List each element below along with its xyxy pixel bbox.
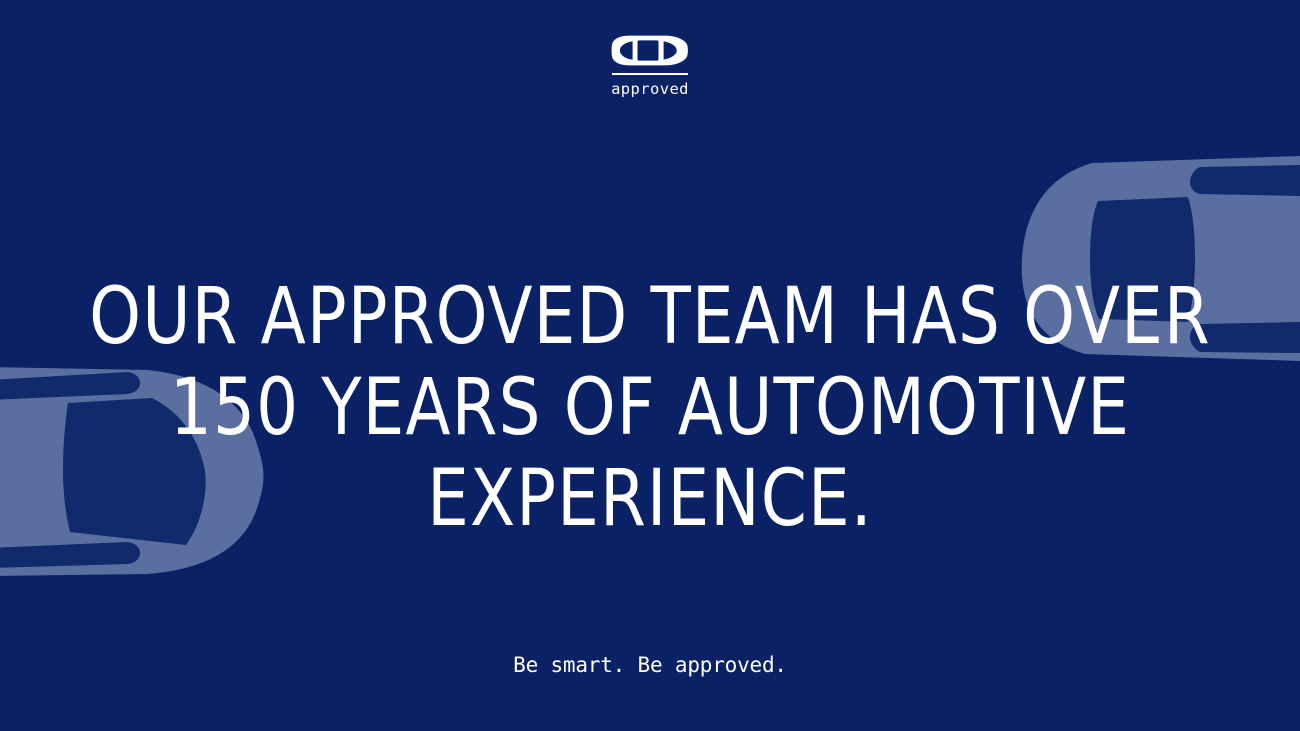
brand-logo: approved (0, 34, 1300, 98)
headline-line-3: EXPERIENCE. (39, 454, 1261, 545)
headline-line-1: OUR APPROVED TEAM HAS OVER (39, 272, 1261, 363)
logo-wordmark: approved (611, 80, 689, 98)
page-title: OUR APPROVED TEAM HAS OVER 150 YEARS OF … (0, 272, 1300, 545)
car-top-view-icon (611, 34, 689, 67)
logo-divider-rule (612, 73, 688, 75)
headline-line-2: 150 YEARS OF AUTOMOTIVE (39, 363, 1261, 454)
tagline: Be smart. Be approved. (0, 653, 1300, 677)
